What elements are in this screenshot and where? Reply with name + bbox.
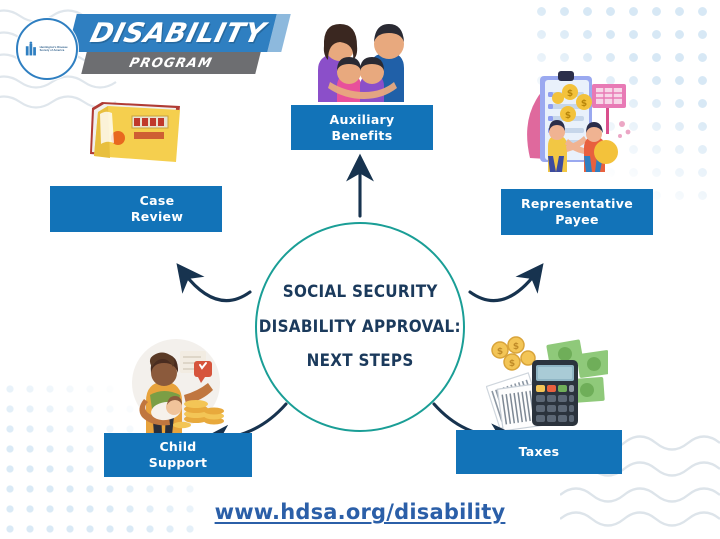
svg-text:$: $ (581, 99, 587, 109)
label-box-case-review[interactable]: Case Review (50, 186, 222, 232)
svg-text:$: $ (497, 347, 503, 357)
hdsa-logo-mark-icon (26, 43, 38, 56)
label-case-line2: Review (131, 209, 183, 225)
banner-title: DISABILITY (76, 15, 281, 51)
svg-text:$: $ (565, 111, 571, 121)
arrow-to-representative-payee (470, 273, 536, 301)
clipboard-payee-money-illustration: $ $ $ (522, 62, 636, 172)
arrow-to-case-review (184, 273, 250, 301)
label-box-representative-payee[interactable]: Representative Payee (501, 189, 653, 235)
label-tax-line1: Taxes (519, 444, 560, 460)
logo-org-line2: Society of America (40, 49, 68, 52)
banner-subtitle: PROGRAM (81, 52, 260, 74)
case-file-folder-illustration (84, 88, 186, 168)
center-circle: SOCIAL SECURITY DISABILITY APPROVAL: NEX… (255, 222, 465, 432)
label-box-auxiliary-benefits[interactable]: Auxiliary Benefits (291, 105, 433, 150)
label-box-child-support[interactable]: Child Support (104, 433, 252, 477)
center-line-1: SOCIAL SECURITY (283, 284, 438, 301)
label-box-taxes[interactable]: Taxes (456, 430, 622, 474)
center-line-3: NEXT STEPS (307, 353, 414, 370)
label-child-line2: Support (149, 455, 208, 471)
hdsa-logo-badge: Huntington's Disease Society of America (16, 18, 78, 80)
center-line-2: DISABILITY APPROVAL: (259, 319, 461, 336)
infographic-canvas: DISABILITY PROGRAM Huntington's Disease … (0, 0, 720, 539)
svg-text:$: $ (567, 89, 573, 99)
label-rep-line2: Payee (521, 212, 633, 228)
family-of-four-illustration (300, 6, 422, 102)
parent-holding-baby-coins-illustration (118, 337, 228, 435)
calculator-money-receipts-illustration: $ $ $ (486, 334, 608, 432)
svg-text:$: $ (513, 342, 519, 352)
label-aux-line2: Benefits (330, 128, 395, 144)
svg-text:$: $ (509, 359, 515, 369)
website-url-link[interactable]: www.hdsa.org/disability (0, 500, 720, 524)
label-rep-line1: Representative (521, 196, 633, 212)
label-aux-line1: Auxiliary (330, 112, 395, 128)
label-child-line1: Child (149, 439, 208, 455)
label-case-line1: Case (131, 193, 183, 209)
